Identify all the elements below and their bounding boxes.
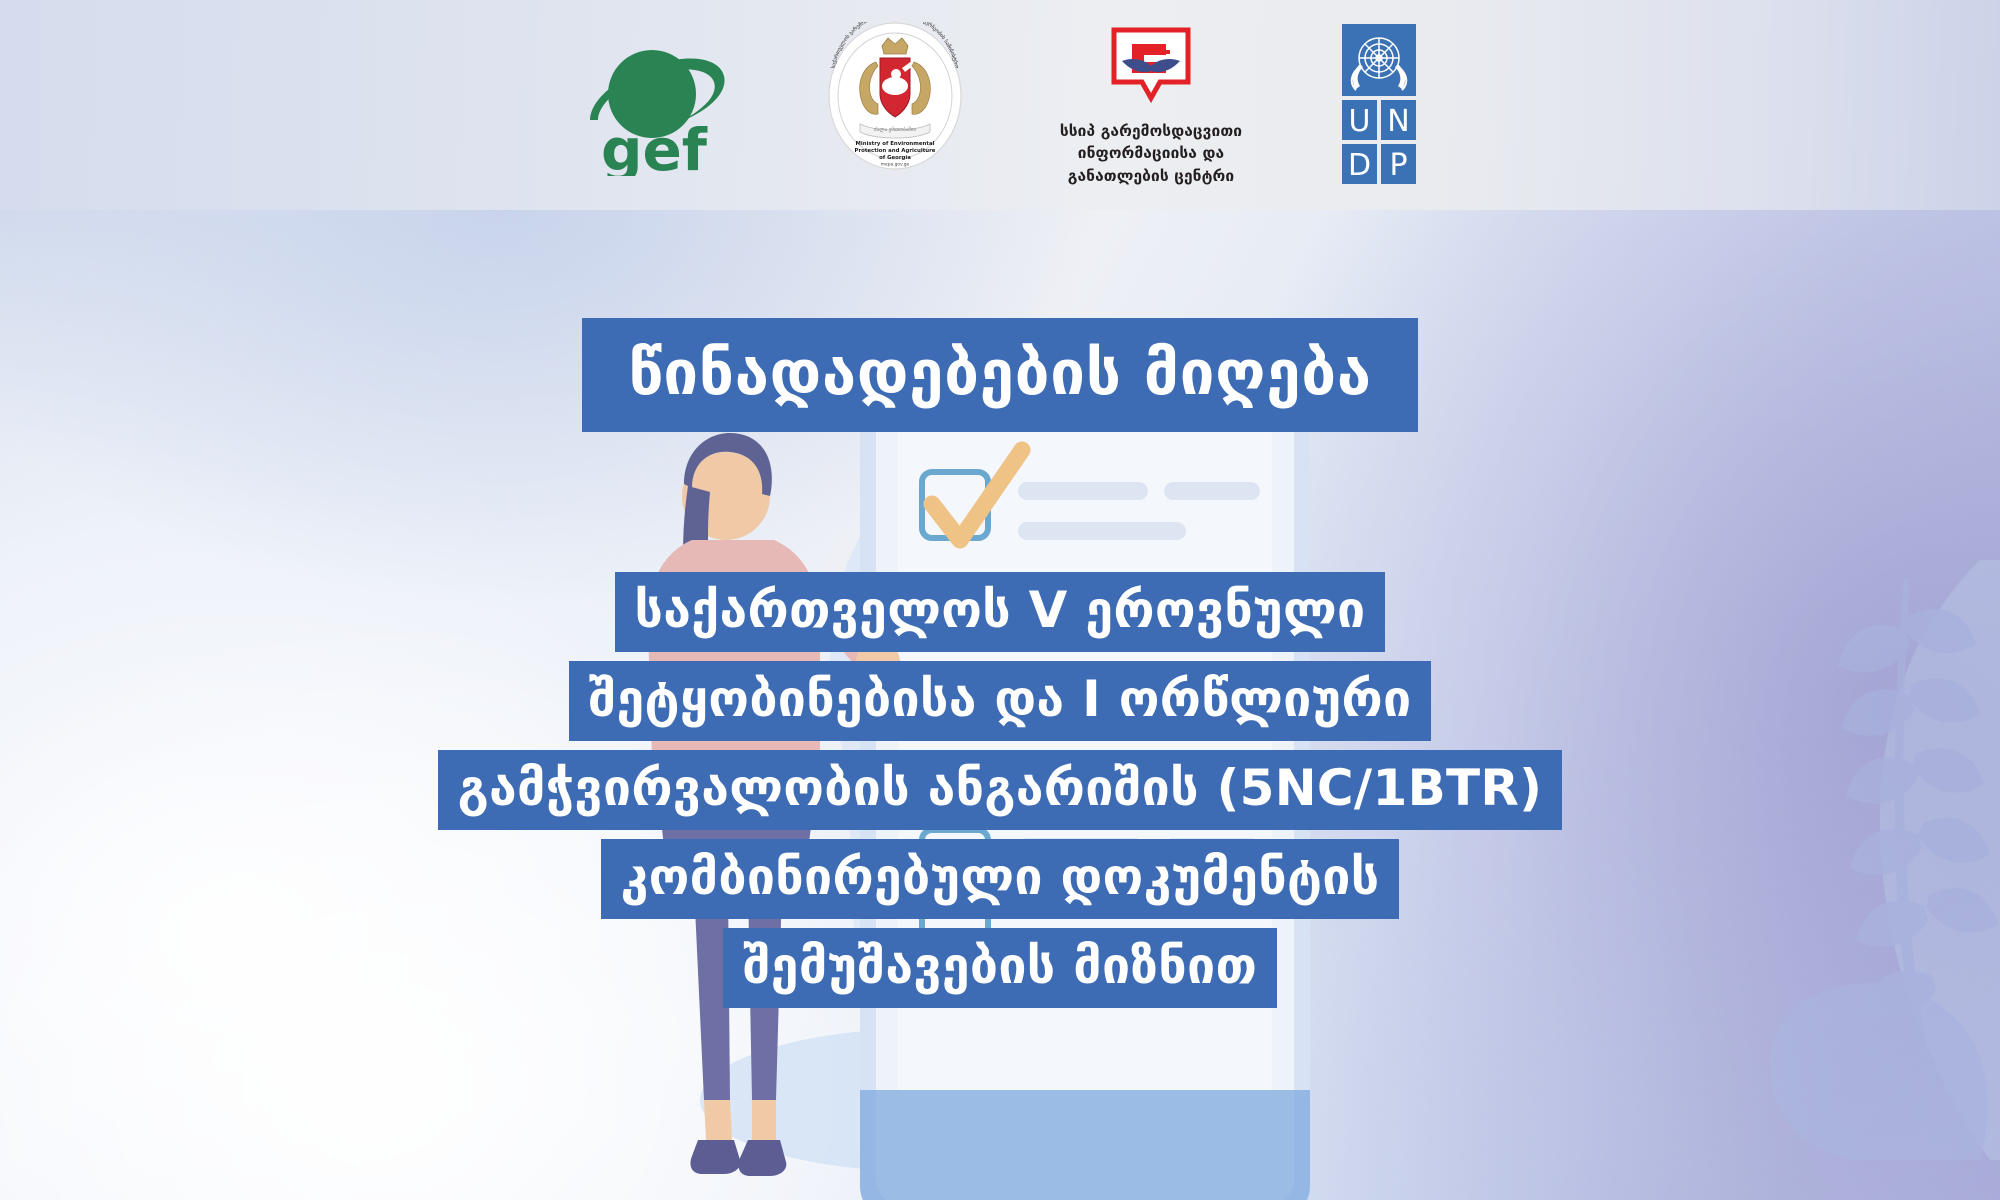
subhead-line-5: შემუშავების მიზნით — [723, 928, 1277, 1008]
logo-row: gef — [0, 18, 2000, 178]
undp-logo: U N D P — [1338, 24, 1420, 184]
eiec-caption-line-1: სსიპ გარემოსდაცვითი — [1060, 120, 1242, 142]
un-emblem-icon: U N D P — [1338, 24, 1420, 184]
eiec-caption: სსიპ გარემოსდაცვითი ინფორმაციისა და განა… — [1060, 120, 1242, 187]
gef-planet-icon: gef — [580, 36, 730, 176]
svg-text:mepa.gov.ge: mepa.gov.ge — [881, 163, 910, 168]
gef-wordmark: gef — [601, 116, 708, 176]
shield-book-icon — [1108, 24, 1194, 110]
page-title: წინადადებების მიღება — [582, 318, 1417, 432]
subhead-line-1: საქართველოს V ეროვნული — [615, 572, 1386, 652]
eiec-caption-line-2: ინფორმაციისა და — [1060, 142, 1242, 164]
subhead-line-4: კომბინირებული დოკუმენტის — [601, 839, 1400, 919]
eiec-caption-line-3: განათლების ცენტრი — [1060, 165, 1242, 187]
svg-text:ძალა ერთობაშია: ძალა ერთობაშია — [874, 126, 916, 133]
svg-text:of Georgia: of Georgia — [879, 155, 911, 161]
subhead-line-3: გამჭვირვალობის ანგარიშის (5NC/1BTR) — [438, 750, 1563, 830]
georgia-coat-of-arms-seal-icon: ძალა ერთობაშია საქართველოს გარემოს დაცვი… — [826, 22, 964, 170]
subhead-block: საქართველოს V ეროვნული შეტყობინებისა და … — [0, 572, 2000, 1017]
gef-logo: gef — [580, 36, 730, 176]
undp-letter-u: U — [1349, 104, 1371, 139]
undp-letter-d: D — [1348, 148, 1371, 183]
subhead-line-2: შეტყობინებისა და I ორწლიური — [569, 661, 1432, 741]
svg-text:Protection and Agriculture: Protection and Agriculture — [854, 148, 935, 154]
headline-banner: წინადადებების მიღება — [0, 318, 2000, 432]
svg-text:Ministry of Environmental: Ministry of Environmental — [855, 141, 934, 147]
eiec-logo: სსიპ გარემოსდაცვითი ინფორმაციისა და განა… — [1060, 24, 1242, 187]
undp-letter-p: P — [1390, 148, 1408, 183]
undp-letter-n: N — [1387, 104, 1409, 139]
mepa-logo: ძალა ერთობაშია საქართველოს გარემოს დაცვი… — [826, 22, 964, 170]
poster-root: gef — [0, 0, 2000, 1200]
